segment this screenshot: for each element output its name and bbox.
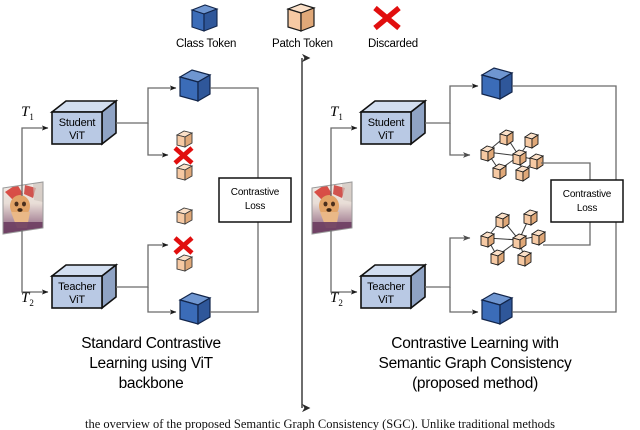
student-semantic-graph: [481, 130, 543, 181]
right-transform-t1-label: T1: [330, 104, 343, 122]
right-teacher-class-token: [482, 293, 512, 324]
right-student-vit-line1: Student: [361, 117, 411, 130]
right-student-class-token: [482, 68, 512, 99]
right-t2-sub: 2: [338, 298, 343, 308]
left-loss-line2: Loss: [219, 200, 291, 214]
right-input-image: [312, 180, 352, 236]
right-loss-line1: Contrastive: [551, 188, 623, 202]
right-loss-label: Contrastive Loss: [551, 188, 623, 215]
right-teacher-vit-line2: ViT: [361, 294, 411, 307]
legend-discarded-icon: [375, 8, 399, 28]
right-caption-line1: Contrastive Learning with: [318, 334, 632, 354]
left-discard-x-top: [175, 148, 192, 163]
legend-label-class-token: Class Token: [176, 38, 236, 51]
right-student-vit-label: Student ViT: [361, 117, 411, 142]
left-input-image: [3, 180, 43, 236]
legend-patch-token-icon: [288, 4, 314, 31]
left-teacher-vit-line1: Teacher: [52, 281, 102, 294]
left-panel-caption: Standard Contrastive Learning using ViT …: [8, 334, 294, 393]
legend-class-token-icon: [192, 5, 217, 31]
figure-root: Class Token Patch Token Discarded T1 T2 …: [0, 0, 640, 430]
left-student-class-token: [180, 70, 210, 101]
left-caption-line1: Standard Contrastive: [8, 334, 294, 354]
left-teacher-class-token: [180, 293, 210, 324]
left-teacher-vit-label: Teacher ViT: [52, 281, 102, 306]
legend-label-discarded: Discarded: [368, 38, 418, 51]
left-student-vit-line2: ViT: [52, 130, 102, 143]
left-transform-t2-label: T2: [21, 290, 34, 308]
left-caption-line3: backbone: [8, 374, 294, 394]
teacher-semantic-graph: [481, 210, 545, 266]
right-teacher-vit-line1: Teacher: [361, 281, 411, 294]
left-t2-sub: 2: [29, 298, 34, 308]
left-loss-label: Contrastive Loss: [219, 186, 291, 213]
right-loss-line2: Loss: [551, 202, 623, 216]
right-student-vit-line2: ViT: [361, 130, 411, 143]
right-caption-line2: Semantic Graph Consistency: [318, 354, 632, 374]
left-discard-x-bottom: [175, 238, 192, 253]
left-transform-t1-label: T1: [21, 104, 34, 122]
clipped-paper-caption: the overview of the proposed Semantic Gr…: [0, 417, 640, 430]
left-caption-line2: Learning using ViT: [8, 354, 294, 374]
right-t1-sub: 1: [338, 112, 343, 122]
left-student-vit-label: Student ViT: [52, 117, 102, 142]
left-teacher-vit-line2: ViT: [52, 294, 102, 307]
legend-label-patch-token: Patch Token: [272, 38, 333, 51]
right-caption-line3: (proposed method): [318, 374, 632, 394]
left-loss-line1: Contrastive: [219, 186, 291, 200]
right-transform-t2-label: T2: [330, 290, 343, 308]
left-student-vit-line1: Student: [52, 117, 102, 130]
left-t1-sub: 1: [29, 112, 34, 122]
right-panel-caption: Contrastive Learning with Semantic Graph…: [318, 334, 632, 393]
right-teacher-vit-label: Teacher ViT: [361, 281, 411, 306]
